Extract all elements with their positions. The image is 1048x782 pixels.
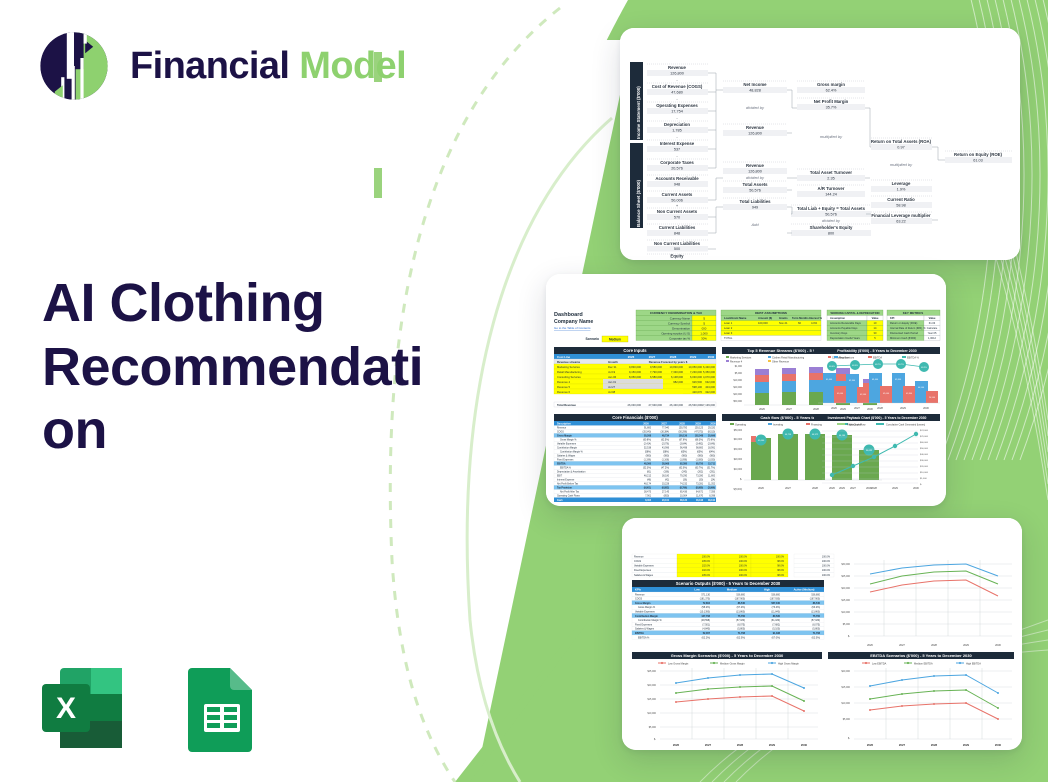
svg-text:Total Assets: Total Assets (742, 182, 768, 187)
svg-text:$5,000: $5,000 (843, 623, 851, 626)
svg-text:126,800: 126,800 (670, 72, 684, 76)
svg-text:98.0%: 98.0% (777, 569, 785, 572)
svg-text:$25,000: $25,000 (841, 575, 850, 578)
svg-text:Medium Gross Margin: Medium Gross Margin (720, 662, 745, 665)
svg-text:2027: 2027 (899, 643, 905, 647)
card-scenario-analysis[interactable]: Revenue 100.0%100.0%100.0%100.0% COGS 10… (622, 518, 1022, 750)
svg-text:2027: 2027 (705, 743, 712, 747)
svg-text:91,338: 91,338 (773, 632, 781, 635)
svg-text:2030: 2030 (801, 743, 808, 747)
svg-text:Gross Margin: Gross Margin (635, 602, 651, 605)
brand-name-part2: Model (299, 45, 406, 87)
svg-text:Active (Medium): Active (Medium) (794, 588, 815, 592)
svg-text:Corporate Taxes: Corporate Taxes (660, 160, 694, 165)
svg-text:570: 570 (674, 216, 680, 220)
svg-text:71,708: 71,708 (813, 632, 821, 635)
svg-text:102.0%: 102.0% (702, 565, 711, 568)
svg-text:Interest Expense: Interest Expense (660, 141, 695, 146)
dashboard-right-charts (546, 274, 946, 506)
platform-badges: X (34, 660, 266, 756)
svg-text:Current Liabilities: Current Liabilities (659, 225, 696, 230)
svg-text:58.98: 58.98 (896, 204, 906, 208)
svg-text:500: 500 (674, 247, 680, 251)
svg-text:Total Liab + Equity = Total As: Total Liab + Equity = Total Assets (797, 206, 866, 211)
svg-text:Revenue: Revenue (634, 555, 644, 558)
svg-text:Shareholder's Equity: Shareholder's Equity (810, 225, 853, 230)
svg-text:Variable Expenses: Variable Expenses (634, 565, 655, 568)
svg-text:62.4%: 62.4% (826, 89, 837, 93)
svg-text:Low: Low (694, 588, 700, 592)
svg-text:98.0%: 98.0% (777, 574, 785, 577)
svg-text:50,006: 50,006 (671, 199, 683, 203)
svg-text:100.0%: 100.0% (739, 565, 748, 568)
svg-text:$10,000: $10,000 (841, 611, 850, 614)
svg-text:divided by: divided by (822, 218, 841, 223)
svg-text:multiplied by: multiplied by (820, 134, 843, 139)
svg-text:$30,000: $30,000 (841, 563, 850, 566)
svg-text:Salaries & Wages: Salaries & Wages (635, 628, 655, 631)
svg-text:$15,000: $15,000 (647, 698, 656, 701)
svg-text:Leverage: Leverage (892, 181, 911, 186)
svg-text:Net Profit Margin: Net Profit Margin (814, 99, 849, 104)
svg-text:Accounts Receivable: Accounts Receivable (655, 176, 699, 181)
svg-text:100.0%: 100.0% (776, 555, 785, 558)
svg-text:Current Assets: Current Assets (662, 192, 693, 197)
svg-text:536,800: 536,800 (811, 593, 820, 596)
svg-text:2027: 2027 (899, 743, 906, 747)
svg-text:Revenue: Revenue (635, 593, 645, 596)
svg-text:(10,1390): (10,1390) (700, 611, 710, 614)
svg-text:126,800: 126,800 (748, 132, 762, 136)
svg-text:(7,682): (7,682) (772, 623, 780, 626)
google-sheets-icon (170, 660, 266, 756)
svg-text:Revenue: Revenue (668, 65, 687, 70)
svg-text:72,804: 72,804 (703, 602, 711, 605)
svg-text:$-: $- (654, 738, 656, 741)
scenario-sheet: Revenue 100.0%100.0%100.0%100.0% COGS 10… (622, 518, 1022, 750)
svg-text:100.0%: 100.0% (739, 574, 748, 577)
svg-text:(167,900): (167,900) (735, 598, 745, 601)
svg-text:Contribution Margin: Contribution Margin (635, 615, 658, 618)
svg-text:(7,501): (7,501) (702, 623, 710, 626)
svg-text:$-: $- (848, 737, 850, 740)
pie-bar-chart-logo-icon (34, 26, 114, 106)
svg-text:(8,075): (8,075) (812, 623, 820, 626)
slide-canvas: Financial Model AI Clothing Recommendati… (0, 0, 1048, 782)
svg-text:1,785: 1,785 (672, 129, 682, 133)
svg-text:2026: 2026 (867, 643, 873, 647)
svg-text:17,754: 17,754 (671, 110, 683, 114)
brand-name-part1: Financial (130, 45, 289, 87)
svg-text:126,800: 126,800 (748, 170, 762, 174)
svg-text:$15,000: $15,000 (841, 686, 850, 689)
svg-text:$5,000: $5,000 (649, 726, 657, 729)
svg-text:80,530: 80,530 (773, 615, 781, 618)
svg-text:Low Gross Margin: Low Gross Margin (668, 662, 689, 665)
svg-text:2028: 2028 (737, 743, 744, 747)
svg-text:105.0%: 105.0% (702, 574, 711, 577)
svg-text:571,130: 571,130 (701, 593, 710, 596)
svg-text:63.22: 63.22 (896, 220, 906, 224)
svg-text:Fixed Expenses: Fixed Expenses (634, 569, 652, 572)
svg-text:(61,180): (61,180) (771, 619, 780, 622)
svg-text:(58.2%): (58.2%) (702, 606, 711, 609)
svg-text:(67.0%): (67.0%) (772, 636, 781, 639)
svg-text:divided by: divided by (746, 175, 765, 180)
svg-text:2028: 2028 (931, 643, 937, 647)
svg-text:587,340: 587,340 (771, 602, 780, 605)
svg-text:X: X (56, 692, 76, 725)
svg-text:Current Ratio: Current Ratio (887, 197, 915, 202)
page-title: AI Clothing Recommendation (42, 272, 442, 463)
svg-text:537: 537 (674, 148, 680, 152)
svg-text:Net Income: Net Income (743, 82, 767, 87)
svg-text:Contribution Margin %: Contribution Margin % (638, 619, 663, 622)
svg-text:(167,900): (167,900) (810, 598, 820, 601)
svg-text:Revenue: Revenue (746, 163, 765, 168)
svg-text:$10,000: $10,000 (647, 712, 656, 715)
svg-text:High EBITDA: High EBITDA (966, 662, 981, 665)
svg-text:Return on Total Assets (ROA): Return on Total Assets (ROA) (871, 139, 932, 144)
svg-text:2026: 2026 (867, 743, 874, 747)
svg-text:Medium: Medium (727, 588, 738, 592)
svg-text:(62.2%): (62.2%) (702, 636, 711, 639)
svg-text:(5,800): (5,800) (812, 628, 820, 631)
svg-text:52,007: 52,007 (703, 632, 711, 635)
svg-text:0.97: 0.97 (897, 146, 904, 150)
svg-text:Financial Leverage multiplier: Financial Leverage multiplier (871, 213, 931, 218)
svg-text:(11,840): (11,840) (771, 611, 780, 614)
svg-text:(13,860): (13,860) (736, 611, 745, 614)
svg-text:Revenue: Revenue (746, 125, 765, 130)
svg-text:50,576: 50,576 (749, 189, 761, 193)
svg-text:48,828: 48,828 (749, 89, 761, 93)
brand-name: Financial Model (130, 47, 406, 85)
svg-text:Cost of Revenue (COGS): Cost of Revenue (COGS) (652, 84, 703, 89)
svg-text:Low EBITDA: Low EBITDA (872, 662, 887, 665)
svg-text:Return on Equity (ROE): Return on Equity (ROE) (954, 152, 1003, 157)
svg-text:848: 848 (674, 232, 680, 236)
svg-text:Non Current Liabilities: Non Current Liabilities (654, 241, 701, 246)
svg-text:$20,000: $20,000 (647, 684, 656, 687)
svg-text:75,700: 75,700 (813, 615, 821, 618)
svg-text:47,680: 47,680 (671, 91, 683, 95)
svg-text:98.0%: 98.0% (777, 560, 785, 563)
left-content-column: Financial Model AI Clothing Recommendati… (0, 0, 470, 782)
svg-text:(5,800): (5,800) (737, 628, 745, 631)
svg-text:$20,000: $20,000 (841, 670, 850, 673)
svg-text:100.0%: 100.0% (822, 555, 831, 558)
svg-text:800: 800 (828, 232, 834, 236)
svg-text:100.0%: 100.0% (702, 555, 711, 558)
svg-text:20,576: 20,576 (671, 167, 683, 171)
svg-text:EBITDA: EBITDA (635, 632, 644, 635)
svg-text:(13,860): (13,860) (811, 611, 820, 614)
dupont-diagram: Income Statement ($'000) Balance Sheet (… (620, 28, 1020, 260)
brand-logo: Financial Model (34, 26, 406, 106)
svg-text:949: 949 (752, 206, 758, 210)
svg-text:102.0%: 102.0% (702, 569, 711, 572)
svg-text:(62.5%): (62.5%) (812, 636, 821, 639)
svg-text:100.0%: 100.0% (739, 555, 748, 558)
svg-text:Scenario Outputs ($'000) - 5 Y: Scenario Outputs ($'000) - 5 Years to De… (676, 581, 781, 586)
card-dupont-diagram[interactable]: Income Statement ($'000) Balance Sheet (… (620, 28, 1020, 260)
card-dashboard[interactable]: Dashboard Company Name Go to the Table o… (546, 274, 946, 506)
svg-text:2029: 2029 (963, 743, 970, 747)
svg-text:2029: 2029 (769, 743, 776, 747)
svg-text:Total Liabilities: Total Liabilities (740, 199, 772, 204)
svg-text:75,700: 75,700 (738, 615, 746, 618)
svg-text:$10,000: $10,000 (841, 702, 850, 705)
svg-text:35.7%: 35.7% (826, 106, 837, 110)
svg-text:2.35: 2.35 (827, 177, 834, 181)
svg-text:$20,000: $20,000 (841, 587, 850, 590)
svg-text:COGS: COGS (634, 560, 641, 563)
svg-text:Non Current Assets: Non Current Assets (657, 209, 698, 214)
svg-text:144.24: 144.24 (825, 193, 837, 197)
svg-text:71,708: 71,708 (738, 632, 746, 635)
svg-text:Fixed Expenses: Fixed Expenses (635, 623, 653, 626)
svg-text:536,800: 536,800 (771, 593, 780, 596)
svg-text:100.0%: 100.0% (822, 560, 831, 563)
svg-text:(57,180): (57,180) (736, 619, 745, 622)
svg-text:100.0%: 100.0% (822, 565, 831, 568)
svg-text:KPIs: KPIs (635, 588, 641, 592)
svg-text:50,576: 50,576 (825, 213, 837, 217)
svg-text:(57,180): (57,180) (811, 619, 820, 622)
svg-text:98.0%: 98.0% (777, 565, 785, 568)
svg-text:Equity: Equity (670, 254, 684, 259)
svg-text:2030: 2030 (995, 643, 1001, 647)
svg-text:A/R Turnover: A/R Turnover (818, 186, 845, 191)
svg-text:2028: 2028 (931, 743, 938, 747)
svg-text:Operating Expenses: Operating Expenses (656, 103, 698, 108)
svg-text:Balance Sheet ($'000): Balance Sheet ($'000) (636, 179, 641, 227)
svg-text:Variable Expenses: Variable Expenses (635, 611, 656, 614)
svg-text:$15,000: $15,000 (841, 599, 850, 602)
svg-text:100.0%: 100.0% (822, 569, 831, 572)
svg-text:Medium EBITDA: Medium EBITDA (914, 662, 933, 665)
svg-text:Add: Add (750, 222, 759, 227)
svg-text:$5,000: $5,000 (843, 718, 851, 721)
svg-text:(8,075): (8,075) (737, 623, 745, 626)
svg-text:$25,000: $25,000 (647, 670, 656, 673)
svg-text:divided by: divided by (746, 105, 765, 110)
svg-text:948: 948 (674, 183, 680, 187)
svg-text:Gross margin: Gross margin (817, 82, 845, 87)
svg-text:137,708: 137,708 (701, 615, 710, 618)
svg-text:(67.2%): (67.2%) (737, 606, 746, 609)
svg-text:EBITDA %: EBITDA % (638, 636, 650, 639)
svg-text:COGS: COGS (635, 598, 642, 601)
svg-text:100.0%: 100.0% (739, 560, 748, 563)
svg-text:100.0%: 100.0% (739, 569, 748, 572)
svg-text:(167,930): (167,930) (770, 598, 780, 601)
svg-text:(73.4%): (73.4%) (772, 606, 781, 609)
svg-text:High Gross Margin: High Gross Margin (778, 662, 799, 665)
svg-text:86,540: 86,540 (738, 602, 746, 605)
microsoft-excel-icon: X (34, 660, 130, 756)
svg-text:2026: 2026 (673, 743, 680, 747)
svg-text:High: High (764, 588, 770, 592)
svg-text:Total Asset Turnover: Total Asset Turnover (810, 170, 853, 175)
svg-text:(181,370): (181,370) (700, 598, 710, 601)
svg-text:2029: 2029 (963, 643, 969, 647)
svg-text:86,540: 86,540 (813, 602, 821, 605)
svg-text:multiplied by: multiplied by (890, 162, 913, 167)
svg-text:Gross Margin %: Gross Margin % (638, 606, 656, 609)
svg-text:(63.2%): (63.2%) (812, 606, 821, 609)
svg-text:2030: 2030 (995, 743, 1002, 747)
svg-text:105.0%: 105.0% (702, 560, 711, 563)
svg-text:(62.5%): (62.5%) (737, 636, 746, 639)
svg-text:Gross Margin Scenarios ($'000): Gross Margin Scenarios ($'000) - 5 Years… (671, 653, 784, 658)
svg-text:1.9%: 1.9% (897, 188, 906, 192)
svg-text:61.03: 61.03 (973, 159, 983, 163)
svg-text:EBITDA Scenarios ($'000) - 5 Y: EBITDA Scenarios ($'000) - 5 Years to De… (870, 653, 972, 658)
svg-text:536,800: 536,800 (736, 593, 745, 596)
svg-text:$-: $- (848, 635, 850, 638)
svg-text:Salaries & Wages: Salaries & Wages (634, 574, 654, 577)
svg-text:(5,100): (5,100) (772, 628, 780, 631)
svg-text:100.0%: 100.0% (822, 574, 831, 577)
svg-text:Depreciation: Depreciation (664, 122, 690, 127)
svg-text:(4,840): (4,840) (702, 628, 710, 631)
svg-text:Income Statement ($'000): Income Statement ($'000) (636, 86, 641, 139)
svg-text:(48,598): (48,598) (701, 619, 710, 622)
